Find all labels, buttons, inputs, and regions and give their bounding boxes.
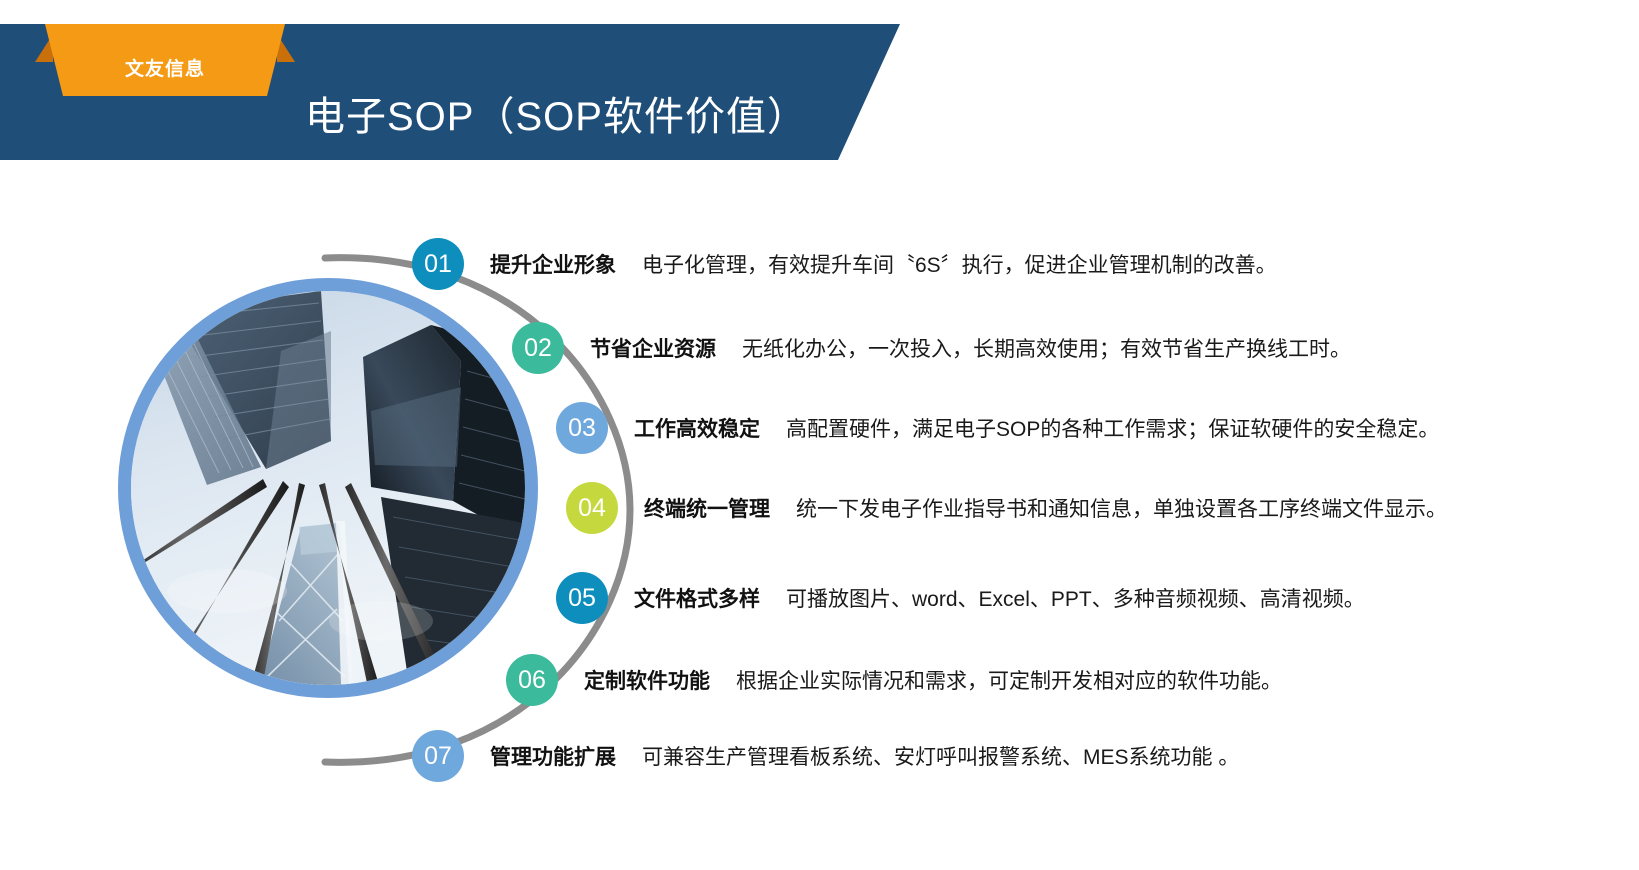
item-desc: 高配置硬件，满足电子SOP的各种工作需求；保证软硬件的安全稳定。: [786, 418, 1439, 441]
step-number-badge: 04: [566, 482, 618, 534]
item-text: 管理功能扩展可兼容生产管理看板系统、安灯呼叫报警系统、MES系统功能 。: [490, 741, 1239, 771]
item-title: 文件格式多样: [634, 588, 760, 611]
item-desc: 电子化管理，有效提升车间〝6S〞执行，促进企业管理机制的改善。: [642, 254, 1277, 277]
item-title: 工作高效稳定: [634, 418, 760, 441]
step-number-badge: 02: [512, 322, 564, 374]
brand-tag-label: 文友信息: [45, 24, 285, 96]
step-number-badge: 03: [556, 402, 608, 454]
brand-tag: 文友信息: [45, 24, 285, 96]
list-item[interactable]: 03 工作高效稳定高配置硬件，满足电子SOP的各种工作需求；保证软硬件的安全稳定…: [556, 402, 1439, 454]
item-title: 节省企业资源: [590, 338, 716, 361]
slide-canvas: 电子SOP（SOP软件价值） 文友信息: [0, 0, 1639, 870]
step-number-badge: 07: [412, 730, 464, 782]
skyscraper-photo: [131, 291, 525, 685]
item-desc: 统一下发电子作业指导书和通知信息，单独设置各工序终端文件显示。: [796, 498, 1447, 521]
item-desc: 根据企业实际情况和需求，可定制开发相对应的软件功能。: [736, 670, 1282, 693]
item-title: 管理功能扩展: [490, 746, 616, 769]
list-item[interactable]: 04 终端统一管理统一下发电子作业指导书和通知信息，单独设置各工序终端文件显示。: [566, 482, 1447, 534]
skyscraper-photo-art: [131, 291, 525, 685]
step-number-badge: 05: [556, 572, 608, 624]
step-number-badge: 01: [412, 238, 464, 290]
list-item[interactable]: 07 管理功能扩展可兼容生产管理看板系统、安灯呼叫报警系统、MES系统功能 。: [412, 730, 1239, 782]
list-item[interactable]: 06 定制软件功能根据企业实际情况和需求，可定制开发相对应的软件功能。: [506, 654, 1282, 706]
item-text: 文件格式多样可播放图片、word、Excel、PPT、多种音频视频、高清视频。: [634, 583, 1365, 613]
list-item[interactable]: 01 提升企业形象电子化管理，有效提升车间〝6S〞执行，促进企业管理机制的改善。: [412, 238, 1277, 290]
item-title: 提升企业形象: [490, 254, 616, 277]
item-text: 节省企业资源无纸化办公，一次投入，长期高效使用；有效节省生产换线工时。: [590, 333, 1351, 363]
page-title: 电子SOP（SOP软件价值）: [305, 84, 808, 142]
item-text: 工作高效稳定高配置硬件，满足电子SOP的各种工作需求；保证软硬件的安全稳定。: [634, 413, 1439, 443]
list-item[interactable]: 05 文件格式多样可播放图片、word、Excel、PPT、多种音频视频、高清视…: [556, 572, 1365, 624]
item-text: 提升企业形象电子化管理，有效提升车间〝6S〞执行，促进企业管理机制的改善。: [490, 249, 1277, 279]
item-title: 定制软件功能: [584, 670, 710, 693]
item-desc: 无纸化办公，一次投入，长期高效使用；有效节省生产换线工时。: [742, 338, 1351, 361]
item-title: 终端统一管理: [644, 498, 770, 521]
slide-header: 电子SOP（SOP软件价值） 文友信息: [0, 24, 900, 160]
step-number-badge: 06: [506, 654, 558, 706]
item-text: 终端统一管理统一下发电子作业指导书和通知信息，单独设置各工序终端文件显示。: [644, 493, 1447, 523]
item-desc: 可兼容生产管理看板系统、安灯呼叫报警系统、MES系统功能 。: [642, 746, 1239, 769]
list-item[interactable]: 02 节省企业资源无纸化办公，一次投入，长期高效使用；有效节省生产换线工时。: [512, 322, 1351, 374]
item-desc: 可播放图片、word、Excel、PPT、多种音频视频、高清视频。: [786, 588, 1365, 611]
photo-circle-ring: [118, 278, 538, 698]
item-text: 定制软件功能根据企业实际情况和需求，可定制开发相对应的软件功能。: [584, 665, 1282, 695]
